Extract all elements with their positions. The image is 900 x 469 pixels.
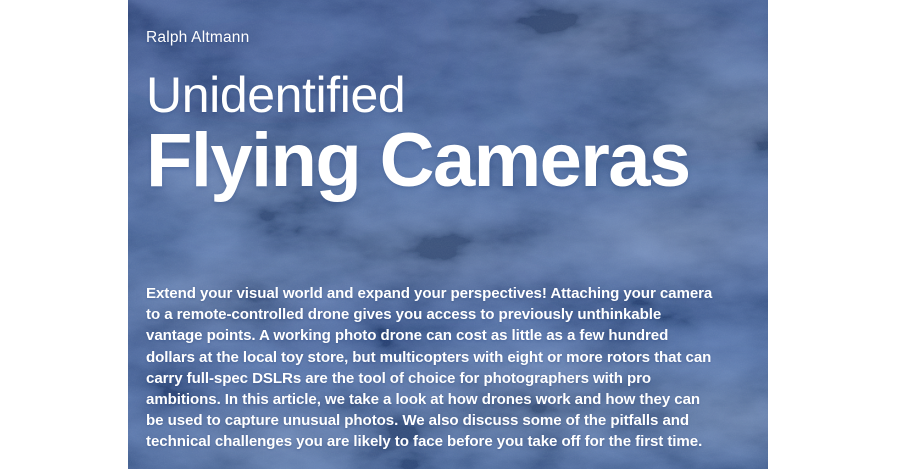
article-title: Unidentified Flying Cameras	[146, 66, 758, 202]
title-line-one: Unidentified	[146, 66, 758, 124]
article-opening-spread: Ralph Altmann Unidentified Flying Camera…	[0, 0, 900, 469]
article-intro-paragraph: Extend your visual world and expand your…	[146, 283, 718, 453]
article-byline: Ralph Altmann	[146, 29, 249, 47]
title-line-two: Flying Cameras	[146, 120, 758, 202]
hero-text-content: Ralph Altmann Unidentified Flying Camera…	[128, 0, 768, 469]
